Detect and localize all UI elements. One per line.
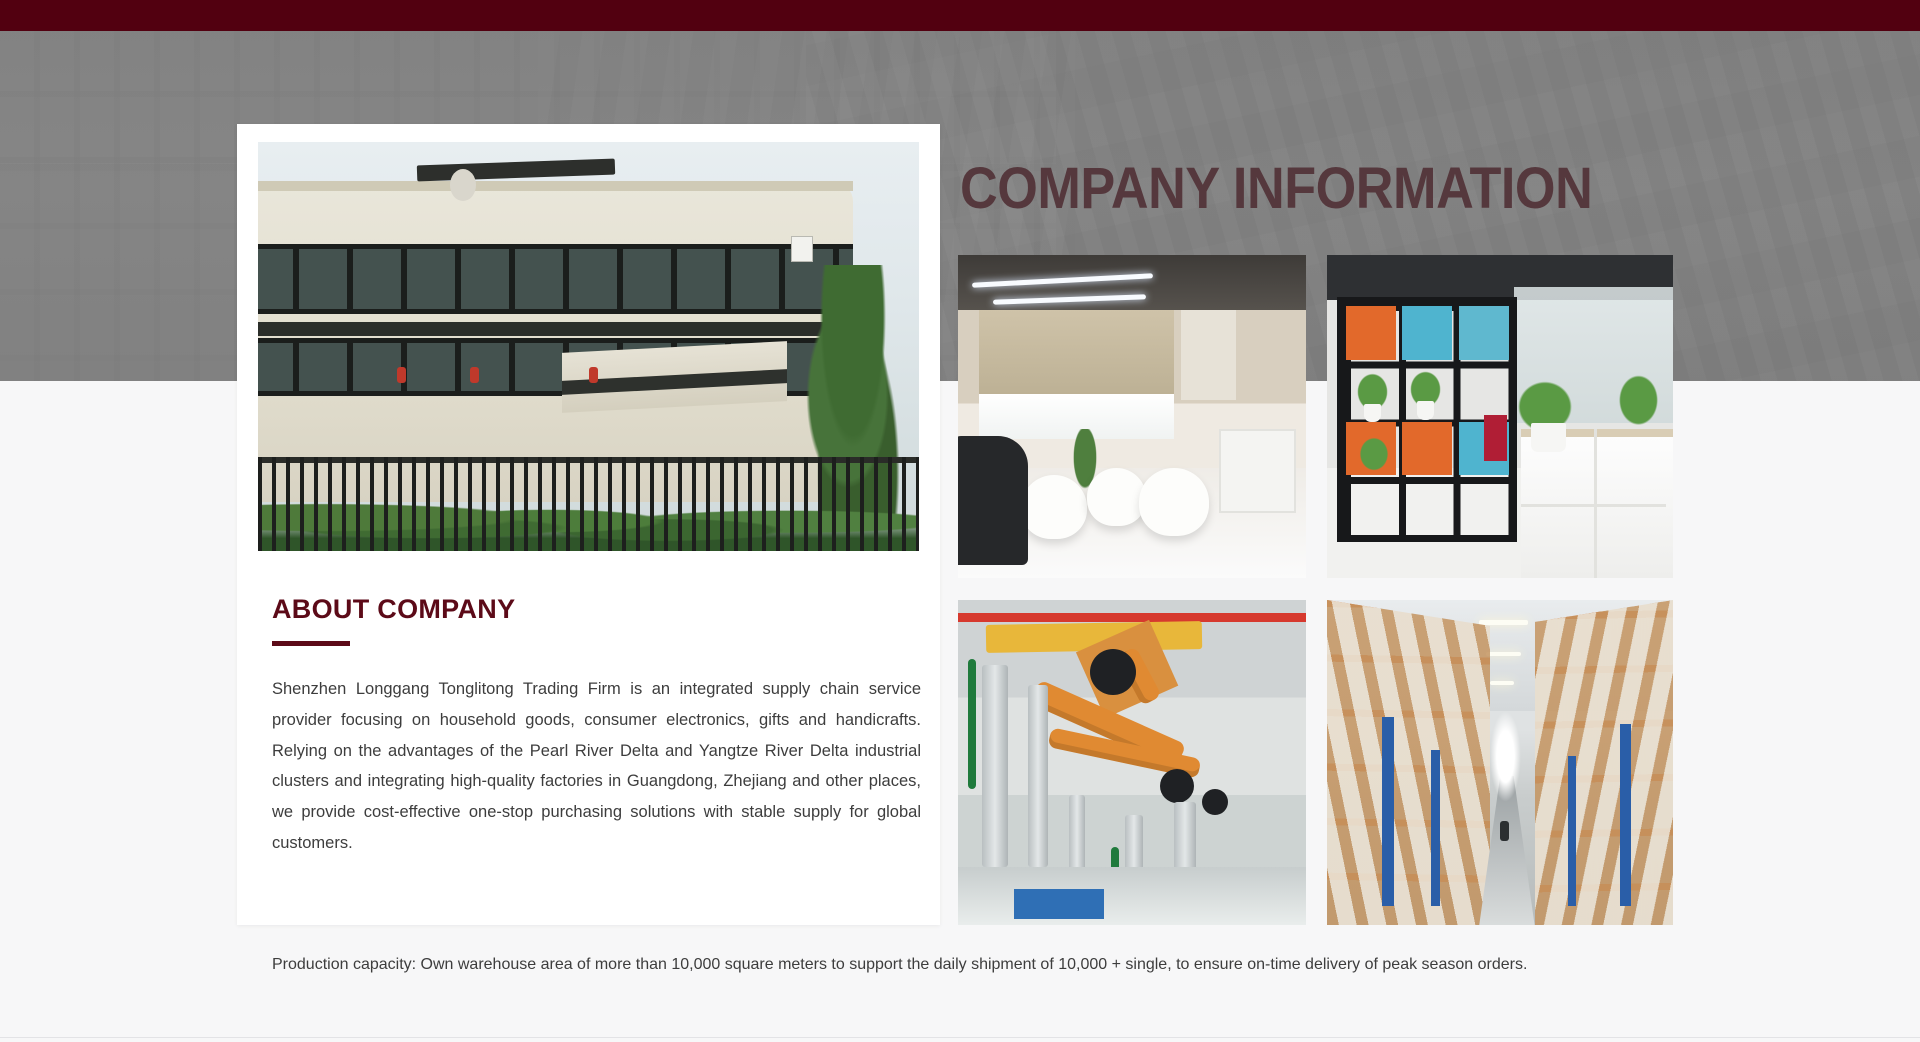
top-accent-bar xyxy=(0,0,1920,31)
photo-office-lounge xyxy=(958,255,1306,578)
about-company-body: Shenzhen Longgang Tonglitong Trading Fir… xyxy=(272,674,921,859)
photo-robotic-arm-line xyxy=(958,600,1306,925)
photo-warehouse-aisle xyxy=(1327,600,1673,925)
page-bottom-divider xyxy=(0,1037,1920,1038)
about-company-heading: ABOUT COMPANY xyxy=(272,594,515,625)
page-title: COMPANY INFORMATION xyxy=(960,160,1592,218)
heading-underline xyxy=(272,641,350,646)
photo-colorful-shelving xyxy=(1327,255,1673,578)
production-capacity-caption: Production capacity: Own warehouse area … xyxy=(272,950,1672,980)
company-building-photo xyxy=(258,142,919,551)
photo-grid xyxy=(958,255,1673,925)
